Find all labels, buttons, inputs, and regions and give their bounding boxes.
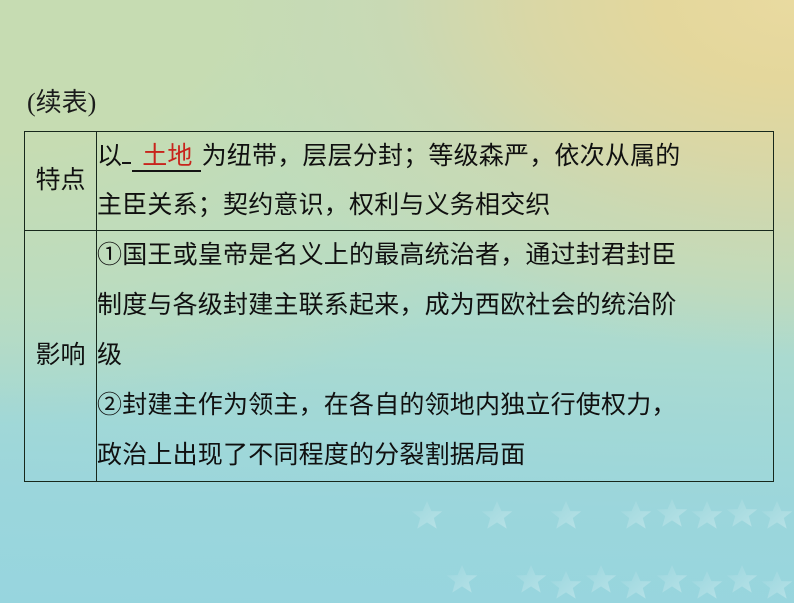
content-line: 主臣关系；契约意识，权利与义务相交织 (97, 181, 773, 230)
continued-table-label: (续表) (27, 86, 96, 120)
line-text: 以 (97, 143, 122, 170)
table-row: 影响 ①国王或皇帝是名义上的最高统治者，通过封君封臣 制度与各级封建主联系起来，… (25, 231, 774, 482)
content-line: ①国王或皇帝是名义上的最高统治者，通过封君封臣 (97, 231, 773, 281)
table-row: 特点 以土地为纽带，层层分封；等级森严，依次从属的 主臣关系；契约意识，权利与义… (25, 132, 774, 231)
row-content-impact: ①国王或皇帝是名义上的最高统治者，通过封君封臣 制度与各级封建主联系起来，成为西… (97, 231, 774, 482)
content-line: 制度与各级封建主联系起来，成为西欧社会的统治阶 (97, 281, 773, 331)
feature-impact-table: 特点 以土地为纽带，层层分封；等级森严，依次从属的 主臣关系；契约意识，权利与义… (24, 131, 774, 482)
fill-in-blank-answer: 土地 (132, 143, 200, 172)
line-text: 主臣关系；契约意识，权利与义务相交织 (97, 192, 551, 219)
content-line: ②封建主作为领主，在各自的领地内独立行使权力， (97, 381, 773, 431)
row-content-feature: 以土地为纽带，层层分封；等级森严，依次从属的 主臣关系；契约意识，权利与义务相交… (97, 132, 774, 231)
content-line: 政治上出现了不同程度的分裂割据局面 (97, 431, 773, 481)
blank-underline-lead (122, 162, 131, 164)
row-label-feature: 特点 (25, 132, 97, 231)
row-label-impact: 影响 (25, 231, 97, 482)
content-line: 级 (97, 331, 773, 381)
slide-canvas: (续表) 特点 以土地为纽带，层层分封；等级森严，依次从属的 主臣关系；契约意识… (0, 0, 794, 603)
content-line: 以土地为纽带，层层分封；等级森严，依次从属的 (97, 132, 773, 181)
line-text: 为纽带，层层分封；等级森严，依次从属的 (202, 143, 681, 170)
